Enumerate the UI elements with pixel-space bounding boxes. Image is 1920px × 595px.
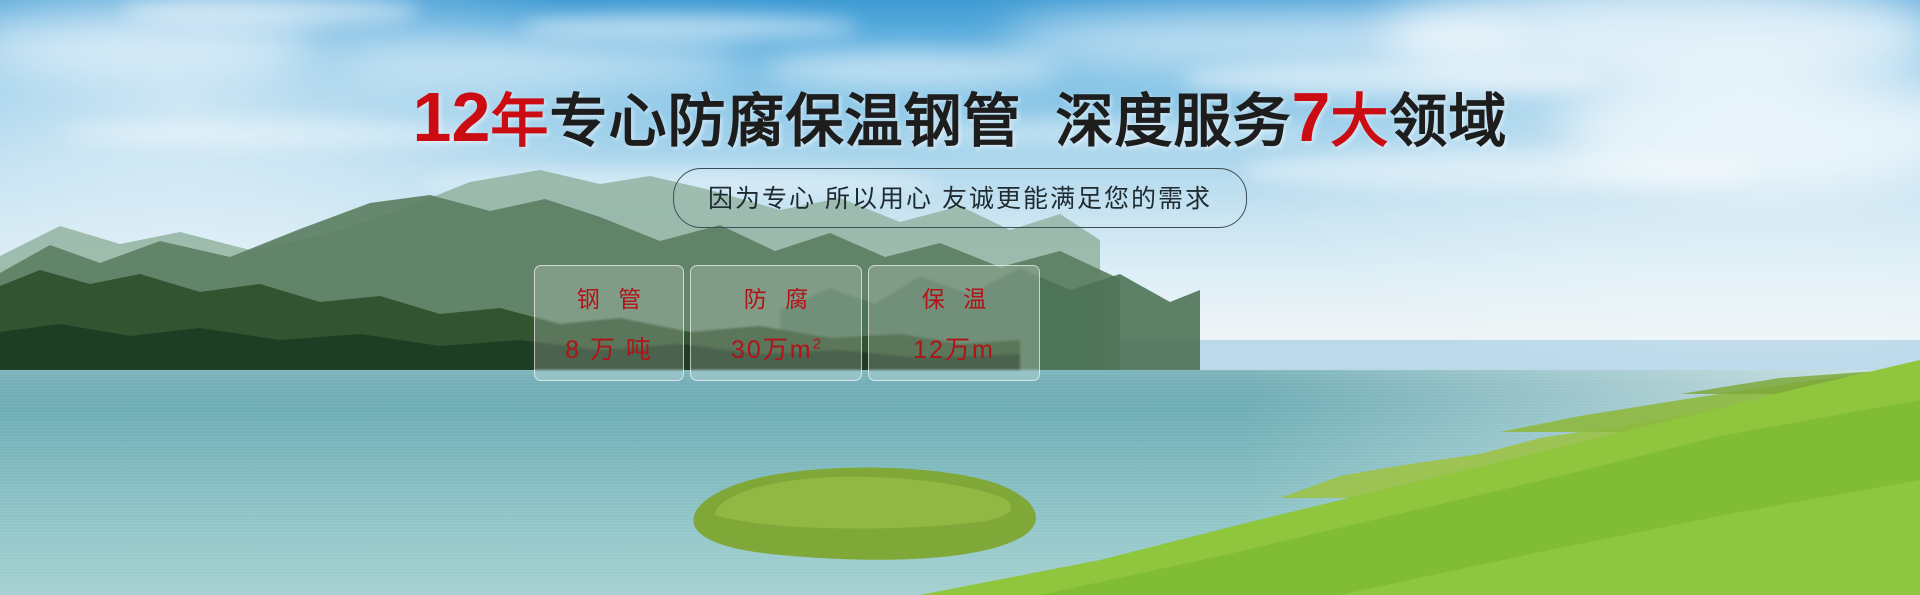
cloud-icon — [330, 40, 750, 86]
headline-part-three: 领域 — [1389, 89, 1507, 154]
headline-fields-number: 7 — [1291, 78, 1330, 156]
cloud-icon — [760, 52, 1060, 86]
headline-years-unit: 年 — [490, 89, 549, 154]
cloud-icon — [520, 14, 860, 40]
stat-value: 12万m — [913, 330, 995, 366]
grass-islet — [655, 465, 1045, 560]
stat-value-superscript: 2 — [813, 336, 821, 353]
stat-label: 保 温 — [916, 280, 992, 314]
cloud-icon — [1240, 150, 1760, 190]
stat-card-insulation[interactable]: 保 温 12万m — [868, 265, 1040, 381]
stat-card-anticorrosion[interactable]: 防 腐 30万m2 — [690, 265, 862, 381]
stats-group: 钢 管 8 万 吨 防 腐 30万m2 保 温 12万m — [534, 265, 1040, 381]
stat-value-text: 30万m — [731, 336, 813, 364]
headline-part-two: 深度服务 — [1055, 89, 1291, 154]
grass-bank — [920, 360, 1920, 595]
stat-card-steel-pipe[interactable]: 钢 管 8 万 吨 — [534, 265, 684, 381]
page-title: 12年专心防腐保温钢管深度服务7大领域 — [0, 82, 1920, 152]
stat-label: 钢 管 — [571, 280, 647, 314]
stat-label: 防 腐 — [738, 280, 814, 314]
stat-value: 30万m2 — [731, 330, 821, 366]
headline-years-number: 12 — [413, 78, 491, 156]
subtitle-pill: 因为专心 所以用心 友诚更能满足您的需求 — [673, 168, 1247, 228]
stat-value-text: 8 万 吨 — [565, 336, 653, 364]
headline-fields-unit: 大 — [1330, 89, 1389, 154]
stat-value: 8 万 吨 — [565, 330, 653, 366]
headline-part-one: 专心防腐保温钢管 — [549, 89, 1021, 154]
promo-banner: 12年专心防腐保温钢管深度服务7大领域 因为专心 所以用心 友诚更能满足您的需求… — [0, 0, 1920, 595]
stat-value-text: 12万m — [913, 336, 995, 364]
